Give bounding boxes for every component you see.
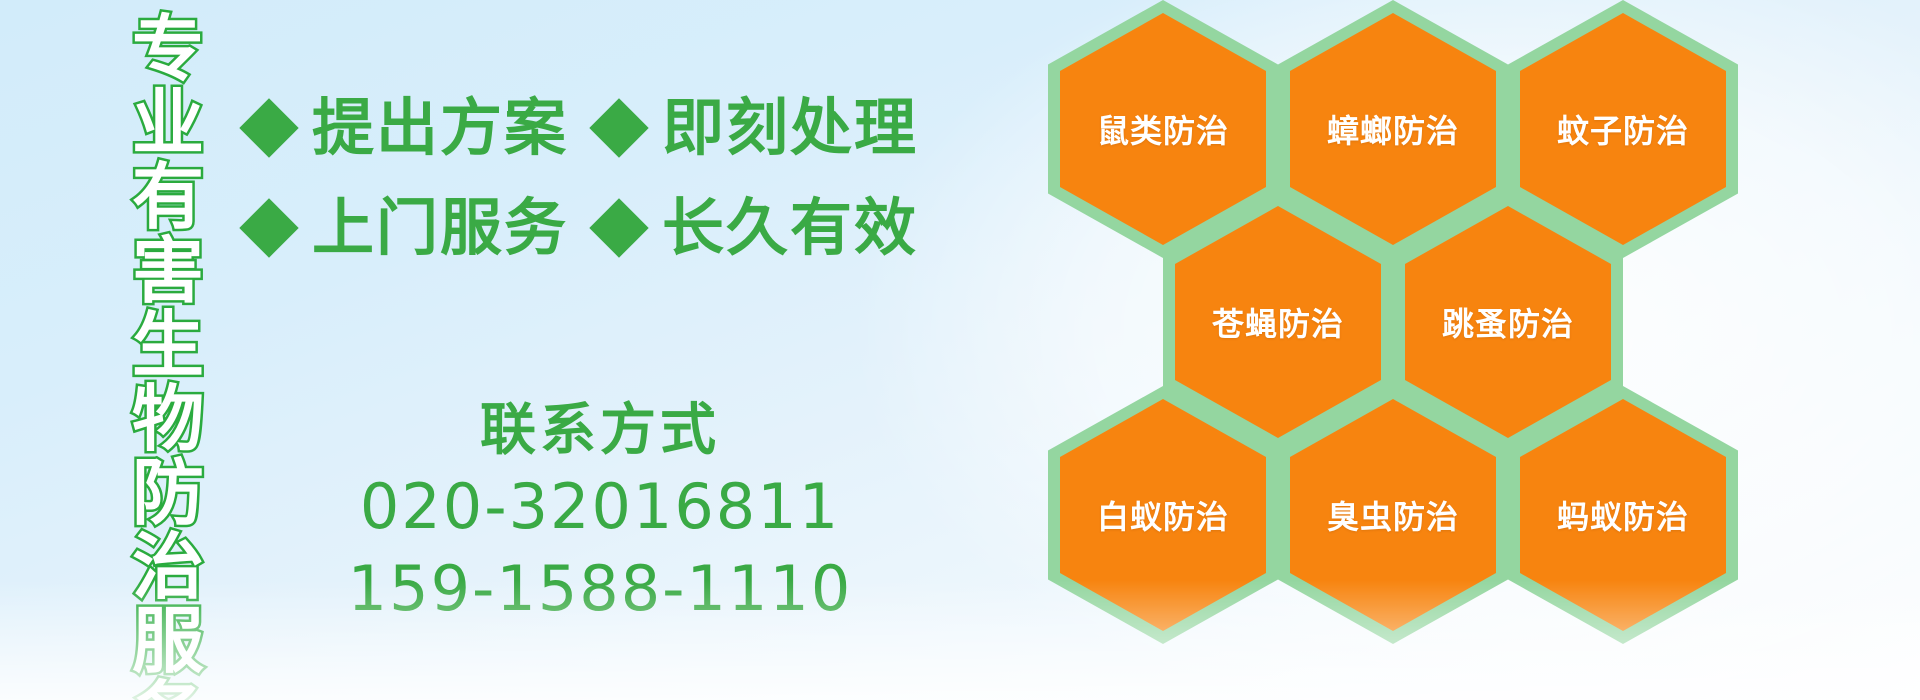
hex-inner: 苍蝇防治 [1175,206,1381,438]
vertical-title: 专 业 有 害 生 物 防 治 服 务 [112,12,224,688]
hex-inner: 蟑螂防治 [1290,13,1496,245]
hex-inner: 蚂蚁防治 [1520,399,1726,631]
phone-landline[interactable]: 020-32016811 [300,466,900,548]
feature-label: 即刻处理 [662,78,918,178]
contact-title: 联系方式 [300,396,900,466]
feature-label: 提出方案 [312,78,568,178]
feature-list: 提出方案 即刻处理 上门服务 长久有效 [248,78,868,278]
promo-banner: 专 业 有 害 生 物 防 治 服 务 提出方案 即刻处理 上门服务 [0,0,1920,700]
hex-inner: 鼠类防治 [1060,13,1266,245]
service-hex-grid: 鼠类防治 蟑螂防治 蚊子防治 苍蝇防治 跳蚤防治 白蚁防治 [1040,0,1820,678]
vertical-title-char: 物 [132,382,204,456]
hex-inner: 蚊子防治 [1520,13,1726,245]
feature-label: 上门服务 [312,178,568,278]
vertical-title-char: 服 [132,604,204,678]
contact-block: 联系方式 020-32016811 159-1588-1110 [300,396,900,630]
vertical-title-char: 防 [132,456,204,530]
service-label: 蟑螂防治 [1327,106,1459,152]
feature-item: 即刻处理 [598,78,918,178]
vertical-title-char: 专 [132,12,204,86]
service-label: 白蚁防治 [1097,492,1229,538]
feature-item: 长久有效 [598,178,918,278]
service-label: 鼠类防治 [1097,106,1229,152]
feature-row: 提出方案 即刻处理 [248,78,868,178]
vertical-title-char: 有 [132,160,204,234]
service-label: 跳蚤防治 [1442,299,1574,345]
feature-item: 上门服务 [248,178,568,278]
vertical-title-char: 务 [132,678,204,700]
feature-row: 上门服务 长久有效 [248,178,868,278]
hex-inner: 跳蚤防治 [1405,206,1611,438]
vertical-title-char: 生 [132,308,204,382]
vertical-title-char: 业 [132,86,204,160]
service-label: 蚊子防治 [1557,106,1689,152]
hex-inner: 臭虫防治 [1290,399,1496,631]
hex-inner: 白蚁防治 [1060,399,1266,631]
service-label: 臭虫防治 [1327,492,1459,538]
feature-label: 长久有效 [662,178,918,278]
feature-item: 提出方案 [248,78,568,178]
phone-mobile[interactable]: 159-1588-1110 [300,548,900,630]
service-label: 苍蝇防治 [1212,299,1344,345]
service-label: 蚂蚁防治 [1557,492,1689,538]
vertical-title-char: 害 [132,234,204,308]
diamond-icon [589,98,648,157]
diamond-icon [239,98,298,157]
vertical-title-char: 治 [132,530,204,604]
diamond-icon [239,198,298,257]
diamond-icon [589,198,648,257]
